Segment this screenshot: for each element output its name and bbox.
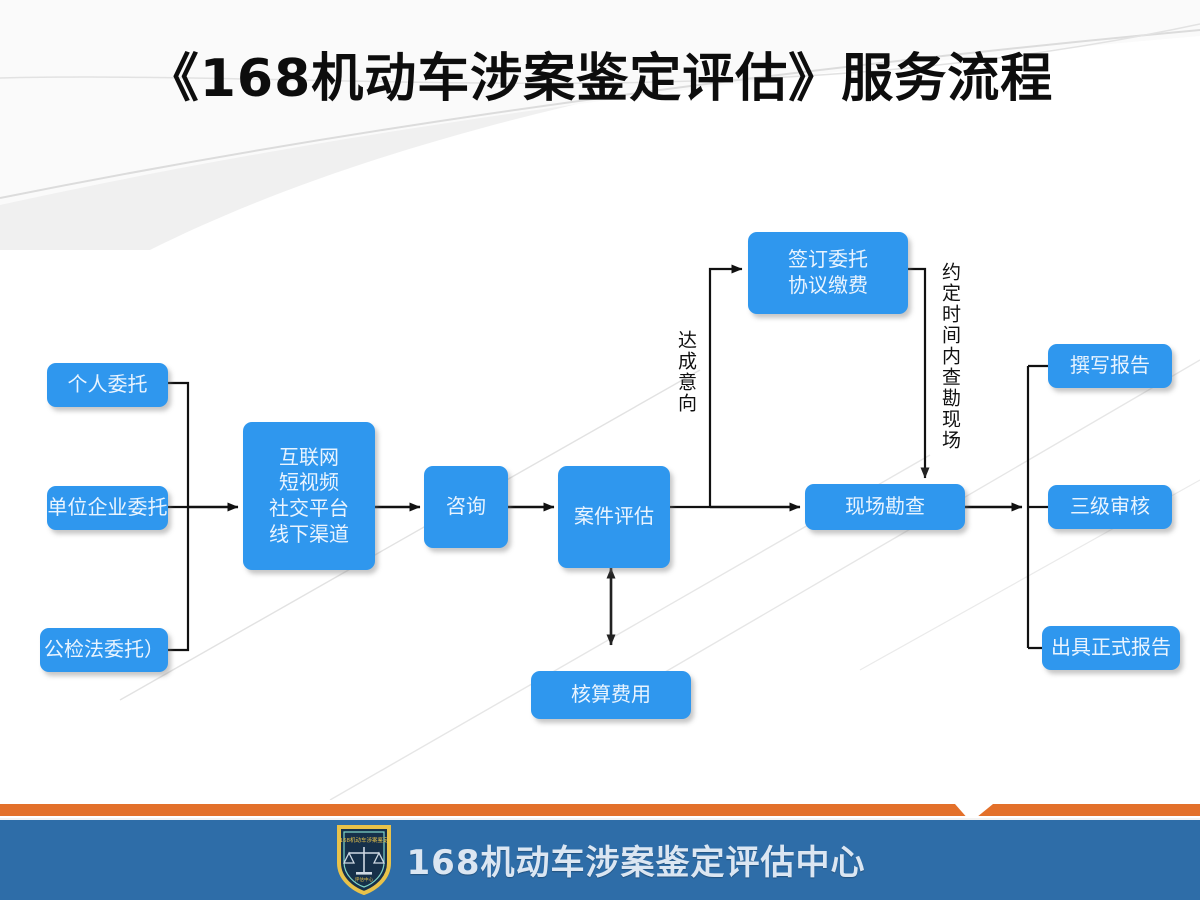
node-label: 单位企业委托 (48, 495, 168, 521)
node-consult[interactable]: 咨询 (424, 466, 508, 548)
node-label: 核算费用 (571, 682, 651, 708)
node-issue-report[interactable]: 出具正式报告 (1042, 626, 1180, 670)
node-personal-entrust[interactable]: 个人委托 (47, 363, 168, 407)
node-label-line-4: 线下渠道 (269, 522, 349, 548)
footer-org-name: 168机动车涉案鉴定评估中心 (407, 835, 866, 884)
node-cost-accounting[interactable]: 核算费用 (531, 671, 691, 719)
node-judicial-entrust[interactable]: 公检法委托） (40, 628, 168, 672)
node-label-line-1: 签订委托 (788, 247, 868, 273)
scales-of-justice-shield-icon: 168机动车涉案鉴定 评估中心 (335, 823, 393, 895)
connector-layer (0, 0, 1200, 900)
footer-content: 168机动车涉案鉴定 评估中心 168机动车涉案鉴定评估中心 (0, 818, 1200, 900)
node-label: 案件评估 (574, 504, 654, 530)
node-label-line-2: 短视频 (279, 470, 339, 496)
node-label-line-2: 协议缴费 (788, 273, 868, 299)
node-label: 出具正式报告 (1051, 635, 1171, 661)
node-channels[interactable]: 互联网 短视频 社交平台 线下渠道 (243, 422, 375, 570)
node-sign-agreement[interactable]: 签订委托 协议缴费 (748, 232, 908, 314)
node-label: 三级审核 (1070, 494, 1150, 520)
node-label-line-3: 社交平台 (269, 496, 349, 522)
svg-text:168机动车涉案鉴定: 168机动车涉案鉴定 (339, 836, 388, 844)
node-company-entrust[interactable]: 单位企业委托 (47, 486, 168, 530)
node-case-assess[interactable]: 案件评估 (558, 466, 670, 568)
node-write-report[interactable]: 撰写报告 (1048, 344, 1172, 388)
svg-text:评估中心: 评估中心 (354, 876, 373, 883)
node-label: 咨询 (446, 494, 486, 520)
node-label: 公检法委托） (44, 637, 164, 663)
edge-label-reach-intent: 达成意向 (676, 330, 695, 414)
node-label-line-1: 互联网 (279, 445, 339, 471)
edge-label-survey-on-time: 约定时间内查勘现场 (940, 262, 959, 451)
node-three-level-review[interactable]: 三级审核 (1048, 485, 1172, 529)
node-label: 现场勘查 (845, 494, 925, 520)
node-label: 撰写报告 (1070, 353, 1150, 379)
node-label: 个人委托 (68, 372, 148, 398)
node-site-survey[interactable]: 现场勘查 (805, 484, 965, 530)
slide-canvas: 《168机动车涉案鉴定评估》服务流程 (0, 0, 1200, 900)
footer-orange-stripe (0, 804, 1200, 816)
